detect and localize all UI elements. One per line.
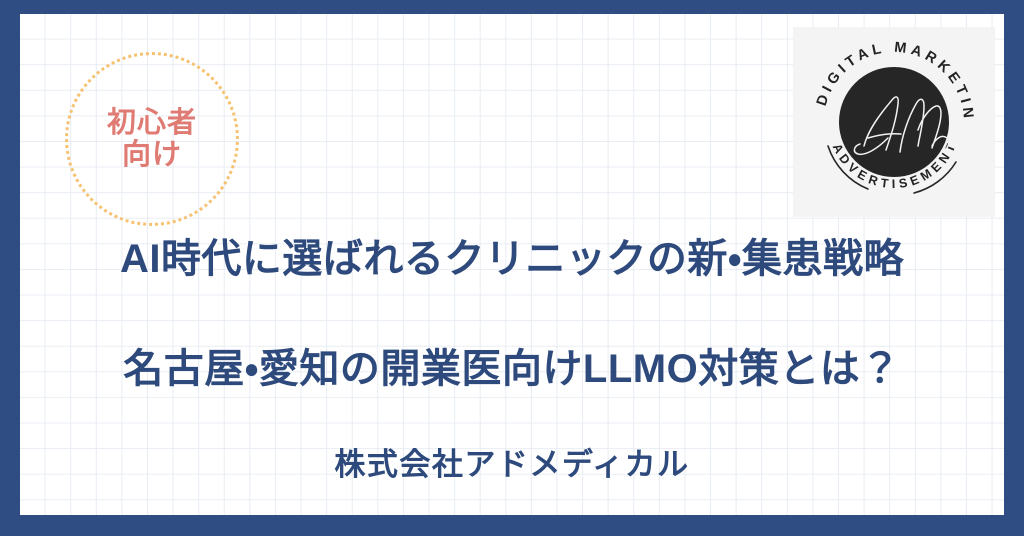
- headline-secondary: 名古屋・愛知の開業医向けLLMO対策とは？: [20, 336, 1004, 394]
- brand-logo-icon: DIGITAL MARKETING ADVERTISEMENT: [806, 34, 982, 210]
- slide-canvas: 初心者 向け DIGITAL MARKETING AD: [20, 14, 1004, 515]
- company-name: 株式会社アドメディカル: [20, 439, 1004, 484]
- badge-line-1: 初心者: [107, 107, 197, 139]
- slide-frame: 初心者 向け DIGITAL MARKETING AD: [0, 0, 1024, 536]
- beginner-badge: 初心者 向け: [65, 52, 239, 226]
- headline-primary: AI時代に選ばれるクリニックの新・集患戦略: [20, 226, 1004, 284]
- badge-line-2: 向け: [122, 139, 182, 171]
- brand-logo-card: DIGITAL MARKETING ADVERTISEMENT: [793, 27, 995, 217]
